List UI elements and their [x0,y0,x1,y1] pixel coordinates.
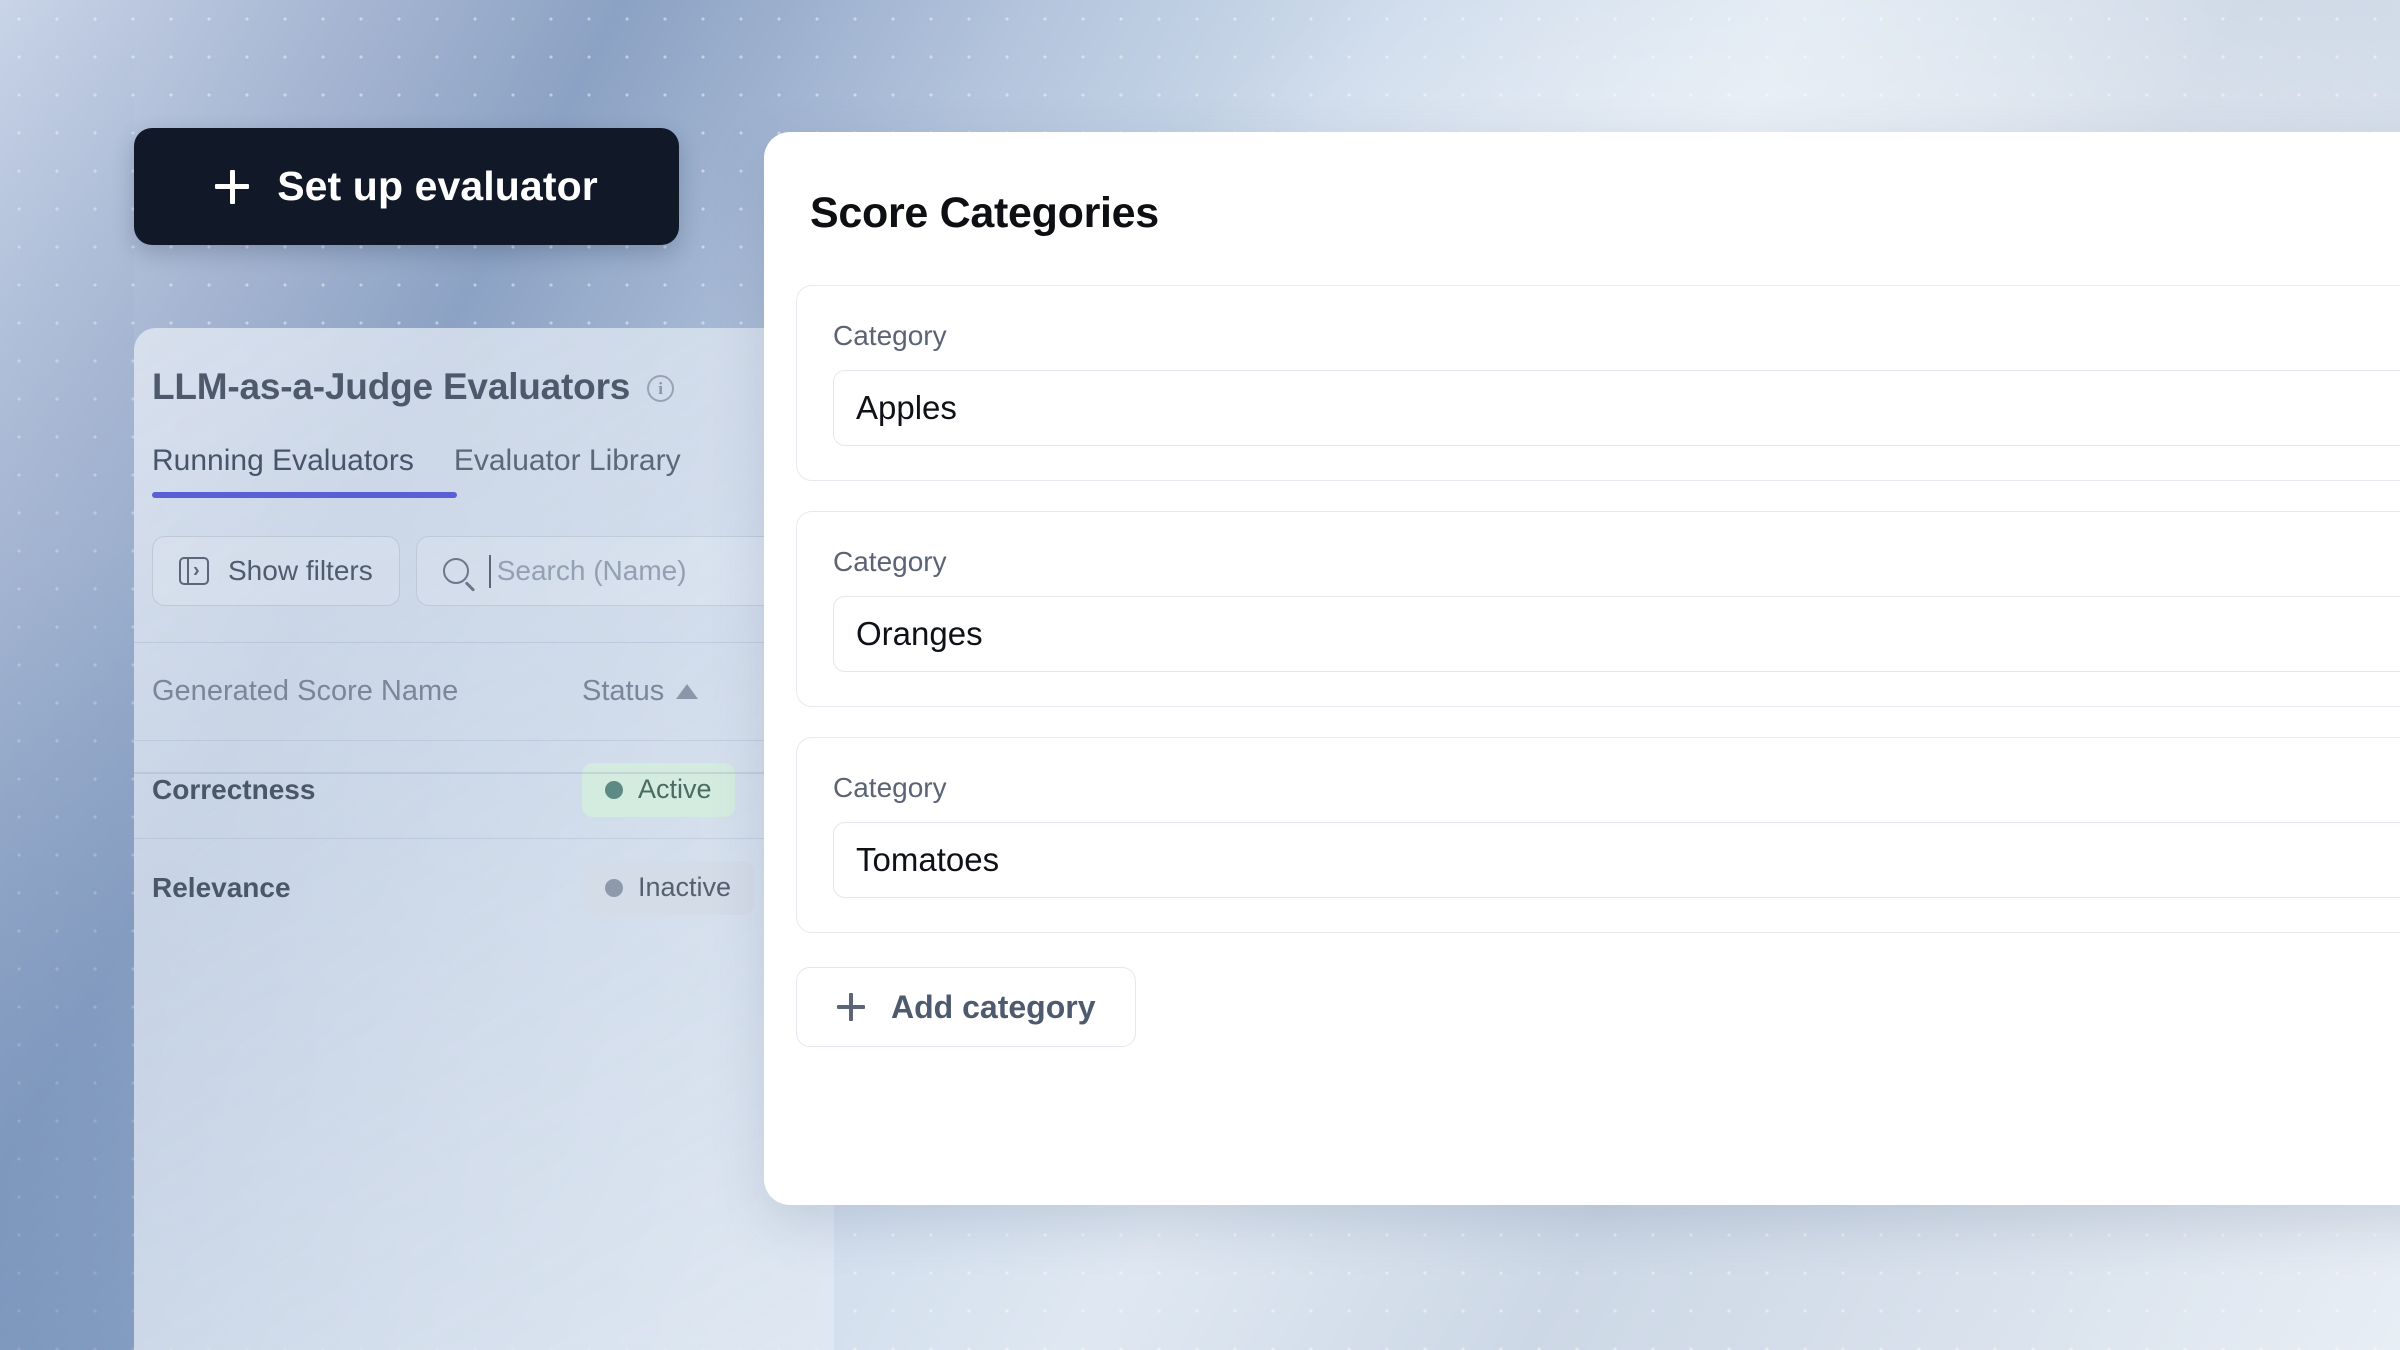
category-card: Category [796,511,2400,707]
evaluators-table: Generated Score Name Status Correctness [134,642,834,936]
evaluators-toolbar: Show filters [134,498,834,606]
text-caret [489,555,491,588]
llm-judge-evaluators-panel: LLM-as-a-Judge Evaluators i Running Eval… [134,328,834,1350]
tab-evaluator-library[interactable]: Evaluator Library [454,444,681,498]
set-up-evaluator-button[interactable]: Set up evaluator [134,128,679,245]
score-categories-panel: Score Categories Category Category Categ… [764,132,2400,1205]
app-root: Set up evaluator LLM-as-a-Judge Evaluato… [0,0,2400,1350]
tabs-divider [134,772,834,774]
category-label: Category [833,546,2400,578]
evaluators-panel-header: LLM-as-a-Judge Evaluators i [134,328,834,408]
category-label: Category [833,772,2400,804]
search-input[interactable] [497,555,807,587]
score-name-cell: Correctness [152,774,315,805]
add-category-label: Add category [891,989,1095,1026]
background-left-band [0,0,134,1350]
category-card: Category [796,737,2400,933]
plus-icon [837,993,865,1021]
status-dot-icon [605,781,623,799]
set-up-evaluator-label: Set up evaluator [277,163,598,210]
status-dot-icon [605,879,623,897]
score-name-cell: Relevance [152,872,291,903]
table-row[interactable]: Relevance Inactive [134,838,834,936]
show-filters-label: Show filters [228,555,373,587]
show-filters-button[interactable]: Show filters [152,536,400,606]
column-header-status[interactable]: Status [582,675,698,708]
add-category-button[interactable]: Add category [796,967,1136,1047]
evaluators-tablist: Running Evaluators Evaluator Library [134,408,834,498]
status-badge-label: Inactive [638,872,731,903]
page-title: Score Categories [764,132,2400,238]
category-card-list: Category Category Category [764,238,2400,933]
category-label: Category [833,320,2400,352]
info-circle-icon[interactable]: i [647,375,674,402]
caret-up-icon [676,684,698,699]
column-header-status-label: Status [582,675,664,708]
table-header-row: Generated Score Name Status [134,642,834,740]
panel-left-open-icon [179,557,209,585]
status-badge: Active [582,763,735,817]
category-input[interactable] [833,370,2400,446]
search-icon [443,558,469,584]
evaluators-panel-title: LLM-as-a-Judge Evaluators [152,366,630,408]
column-header-generated-score-name[interactable]: Generated Score Name [152,675,458,707]
status-badge: Inactive [582,861,754,915]
tab-running-evaluators[interactable]: Running Evaluators [152,444,414,498]
table-row[interactable]: Correctness Active [134,740,834,838]
status-badge-label: Active [638,774,712,805]
category-input[interactable] [833,822,2400,898]
plus-icon [215,170,249,204]
category-card: Category [796,285,2400,481]
category-input[interactable] [833,596,2400,672]
